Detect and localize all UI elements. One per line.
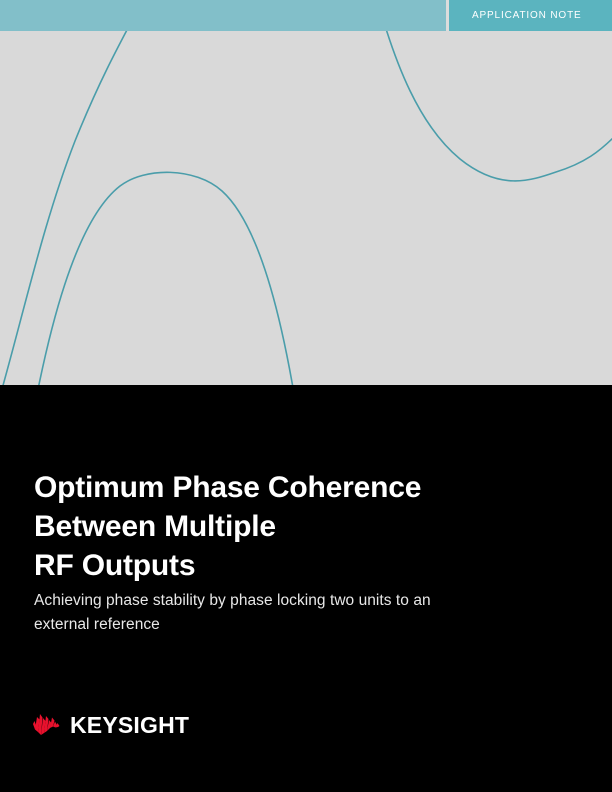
- document-type-label: APPLICATION NOTE: [472, 9, 582, 22]
- wave-path-right: [375, 31, 612, 181]
- application-note-cover: APPLICATION NOTE Optimum Phase Coherence…: [0, 0, 612, 792]
- keysight-waveform-mark: [33, 713, 64, 737]
- page-title-line-1: Optimum Phase Coherence: [34, 468, 574, 507]
- page-subtitle-line-1: Achieving phase stability by phase locki…: [34, 589, 554, 613]
- keysight-logo: KEYSIGHT: [33, 710, 189, 740]
- keysight-wordmark: KEYSIGHT: [70, 713, 189, 737]
- page-subtitle: Achieving phase stability by phase locki…: [34, 589, 554, 637]
- page-title: Optimum Phase Coherence Between Multiple…: [34, 468, 574, 585]
- sine-wave-graphic: [0, 31, 612, 385]
- wave-path-left: [0, 31, 145, 385]
- page-title-line-2: Between Multiple: [34, 507, 574, 546]
- wave-path-arch: [30, 172, 300, 385]
- hero-graphic-panel: [0, 31, 612, 385]
- header-divider: [446, 0, 449, 31]
- page-title-line-3: RF Outputs: [34, 546, 574, 585]
- page-subtitle-line-2: external reference: [34, 613, 554, 637]
